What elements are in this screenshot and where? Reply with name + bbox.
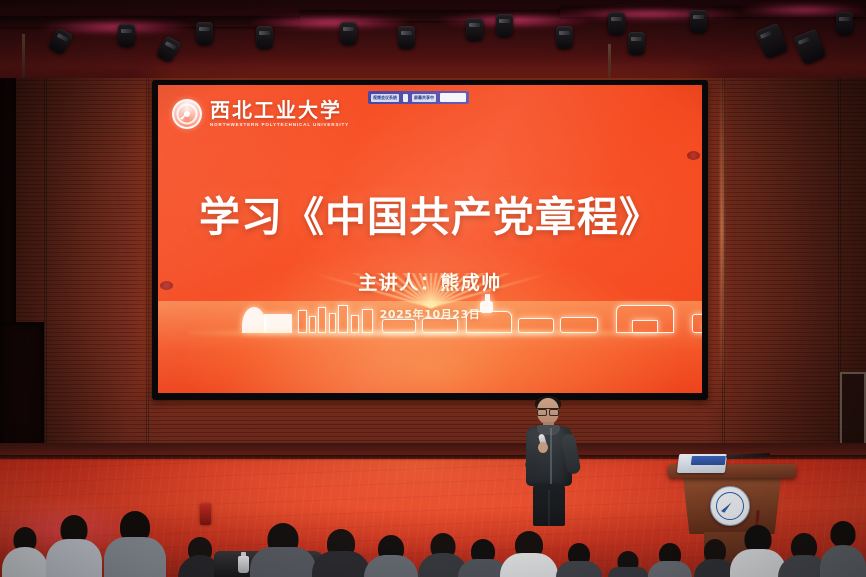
audience-shoulders: [556, 561, 602, 577]
audience-member: [500, 531, 558, 577]
stage-light: [256, 26, 273, 49]
audience-shoulders: [2, 547, 48, 577]
university-logo-text: 西北工业大学 NORTHWESTERN POLYTECHNICAL UNIVER…: [210, 100, 349, 128]
audience-member: [648, 543, 692, 577]
university-logo: 西北工业大学 NORTHWESTERN POLYTECHNICAL UNIVER…: [172, 99, 349, 129]
stage-light: [690, 10, 707, 33]
stage-light: [340, 22, 357, 45]
stage-light: [556, 26, 573, 49]
ceiling-rig: [0, 0, 866, 78]
stage-light: [156, 35, 182, 63]
skyline-spire: [485, 294, 490, 303]
stage-light: [836, 12, 853, 35]
audience-shoulders: [500, 553, 558, 577]
eyeglasses-icon: [537, 408, 559, 413]
watermark-label-left: 视频会议系统: [371, 94, 399, 102]
stage-light: [793, 29, 826, 66]
water-bottle[interactable]: [238, 556, 249, 573]
ceiling-uplight: [250, 16, 410, 29]
ceiling-uplight: [560, 8, 740, 20]
audience-shoulders: [364, 555, 418, 577]
audience-shoulders: [820, 545, 866, 577]
watermark-label-right: 屏幕共享中: [412, 94, 436, 102]
stage-light: [466, 18, 483, 41]
led-screen-bezel: 西北工业大学 NORTHWESTERN POLYTECHNICAL UNIVER…: [152, 80, 708, 400]
watermark-text-right: 屏幕共享中: [412, 95, 436, 101]
stage-light: [118, 24, 135, 47]
led-screen[interactable]: 西北工业大学 NORTHWESTERN POLYTECHNICAL UNIVER…: [158, 85, 702, 393]
presentation-title: 学习《中国共产党章程》: [158, 183, 702, 243]
audience-member: [2, 527, 48, 577]
city-skyline-graphic: [236, 287, 624, 333]
light-pole: [608, 44, 611, 78]
audience-shoulders: [608, 567, 648, 577]
stage-light: [608, 12, 625, 35]
watermark-tail: [440, 93, 466, 102]
screen-share-watermark: 视频会议系统 屏幕共享中: [368, 91, 469, 104]
screen-share-icon: [403, 94, 408, 102]
audience-member: [312, 529, 370, 577]
laptop-screen: [691, 456, 726, 465]
audience-shoulders: [312, 551, 370, 577]
presenter-hand: [538, 442, 548, 453]
light-pole: [22, 34, 25, 78]
skyline-ground-glow: [188, 329, 672, 337]
audience-member: [608, 551, 648, 577]
university-name-cn: 西北工业大学: [210, 100, 349, 120]
phone-recording[interactable]: [200, 504, 211, 525]
audience-shoulders: [104, 537, 166, 577]
wall-light-strip: [720, 70, 724, 390]
stage-light: [398, 26, 415, 49]
audience-head: [831, 521, 856, 547]
audience-shoulders: [648, 561, 692, 577]
screen-pixel-artifact: [687, 151, 700, 160]
audience-member: [364, 535, 418, 577]
audience-shoulders: [250, 547, 316, 577]
lecture-hall-scene: 西北工业大学 NORTHWESTERN POLYTECHNICAL UNIVER…: [0, 0, 866, 577]
stage-light: [628, 32, 645, 55]
audience-member: [820, 521, 866, 577]
laptop[interactable]: [677, 454, 727, 473]
audience: [0, 497, 866, 577]
skyline-stadium: [692, 314, 702, 333]
stage-light: [755, 23, 788, 60]
audience-member: [46, 515, 102, 577]
audience-member: [250, 523, 316, 577]
watermark-text-left: 视频会议系统: [371, 95, 399, 101]
stage-light: [196, 22, 213, 45]
gooseneck-microphone: [726, 453, 770, 458]
audience-member: [104, 511, 166, 577]
audience-member: [556, 543, 602, 577]
university-name-en: NORTHWESTERN POLYTECHNICAL UNIVERSITY: [210, 123, 349, 128]
jacket-zipper: [550, 428, 552, 484]
university-crest-icon: [172, 99, 202, 129]
stage-light: [496, 14, 513, 37]
audience-shoulders: [46, 539, 102, 577]
